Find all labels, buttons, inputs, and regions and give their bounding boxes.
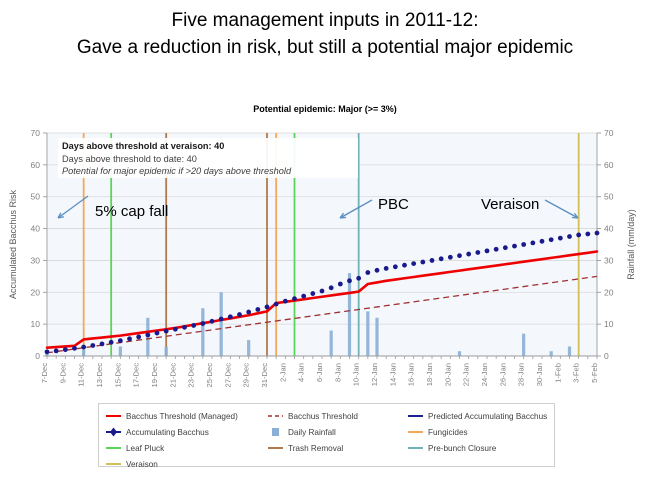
- series-point-accumulating-bacchus: [595, 231, 600, 236]
- series-point-accumulating-bacchus: [393, 264, 398, 269]
- diamond-marker-icon: [105, 426, 122, 438]
- x-tick-label: 18-Jan: [425, 363, 434, 386]
- series-point-accumulating-bacchus: [155, 331, 160, 336]
- series-point-accumulating-bacchus: [512, 244, 517, 249]
- y-tick-label-right: 60: [604, 160, 614, 170]
- legend-label: Bacchus Threshold: [288, 412, 358, 421]
- legend-label: Bacchus Threshold (Managed): [126, 412, 238, 421]
- series-point-accumulating-bacchus: [191, 323, 196, 328]
- chart-subtitle: Potential epidemic: Major (>= 3%): [0, 104, 650, 114]
- epidemic-risk-chart: 010203040506070010203040506070Accumulate…: [0, 118, 650, 408]
- legend-label: Pre-bunch Closure: [428, 444, 496, 453]
- y-tick-label-right: 20: [604, 287, 614, 297]
- rainfall-bar: [82, 350, 85, 356]
- x-tick-label: 16-Jan: [407, 363, 416, 386]
- legend-label: Trash Removal: [288, 444, 343, 453]
- series-point-accumulating-bacchus: [127, 336, 132, 341]
- x-tick-label: 1-Feb: [553, 363, 562, 383]
- y-axis-title-right: Rainfall (mm/day): [626, 209, 636, 280]
- series-point-accumulating-bacchus: [164, 329, 169, 334]
- series-point-accumulating-bacchus: [494, 247, 499, 252]
- solid-line-icon: [105, 410, 122, 422]
- series-point-accumulating-bacchus: [246, 310, 251, 315]
- x-tick-label: 4-Jan: [297, 363, 306, 382]
- y-tick-label-left: 50: [31, 192, 41, 202]
- annotation-line-3: Potential for major epidemic if >20 days…: [62, 166, 292, 176]
- solid-line-icon: [105, 458, 122, 470]
- solid-line-icon: [105, 442, 122, 454]
- y-tick-label-left: 10: [31, 319, 41, 329]
- series-point-accumulating-bacchus: [457, 253, 462, 258]
- rainfall-bar: [201, 308, 204, 356]
- solid-line-icon: [267, 442, 284, 454]
- x-tick-label: 7-Dec: [40, 363, 49, 383]
- x-tick-label: 28-Jan: [517, 363, 526, 386]
- series-point-accumulating-bacchus: [237, 312, 242, 317]
- series-point-accumulating-bacchus: [45, 349, 50, 354]
- legend-item[interactable]: Pre-bunch Closure: [407, 441, 557, 455]
- series-point-accumulating-bacchus: [200, 321, 205, 326]
- series-point-accumulating-bacchus: [576, 233, 581, 238]
- x-tick-label: 31-Dec: [260, 363, 269, 388]
- y-tick-label-right: 30: [604, 255, 614, 265]
- series-point-accumulating-bacchus: [228, 314, 233, 319]
- series-point-accumulating-bacchus: [173, 327, 178, 332]
- slide-title: Five management inputs in 2011-12: Gave …: [0, 8, 650, 62]
- series-point-accumulating-bacchus: [109, 340, 114, 345]
- legend-item[interactable]: Daily Rainfall: [267, 425, 407, 439]
- solid-line-icon: [407, 442, 424, 454]
- series-point-accumulating-bacchus: [265, 305, 270, 310]
- x-tick-label: 21-Dec: [168, 363, 177, 388]
- y-tick-label-left: 70: [31, 128, 41, 138]
- legend-label: Veraison: [126, 460, 158, 469]
- series-point-accumulating-bacchus: [320, 289, 325, 294]
- x-tick-label: 24-Jan: [480, 363, 489, 386]
- legend-label: Leaf Pluck: [126, 444, 164, 453]
- solid-line-icon: [407, 426, 424, 438]
- series-point-accumulating-bacchus: [466, 252, 471, 257]
- series-point-accumulating-bacchus: [292, 296, 297, 301]
- series-point-accumulating-bacchus: [136, 334, 141, 339]
- series-point-accumulating-bacchus: [540, 239, 545, 244]
- legend-label: Accumulating Bacchus: [126, 428, 209, 437]
- x-tick-label: 14-Jan: [388, 363, 397, 386]
- callout-label-veraison: Veraison: [481, 196, 539, 213]
- rainfall-bar: [522, 334, 525, 356]
- legend-item[interactable]: Trash Removal: [267, 441, 407, 455]
- series-point-accumulating-bacchus: [549, 237, 554, 242]
- y-tick-label-right: 0: [604, 351, 609, 361]
- x-tick-label: 23-Dec: [187, 363, 196, 388]
- y-tick-label-right: 40: [604, 224, 614, 234]
- series-point-accumulating-bacchus: [402, 263, 407, 268]
- x-tick-label: 8-Jan: [333, 363, 342, 382]
- series-point-accumulating-bacchus: [310, 291, 315, 296]
- x-tick-label: 2-Jan: [278, 363, 287, 382]
- series-point-accumulating-bacchus: [63, 347, 68, 352]
- series-point-accumulating-bacchus: [210, 319, 215, 324]
- x-tick-label: 19-Dec: [150, 363, 159, 388]
- series-point-accumulating-bacchus: [384, 266, 389, 271]
- x-tick-label: 29-Dec: [242, 363, 251, 388]
- series-point-accumulating-bacchus: [145, 333, 150, 338]
- legend-item[interactable]: Bacchus Threshold: [267, 409, 407, 423]
- series-point-accumulating-bacchus: [118, 338, 123, 343]
- series-point-accumulating-bacchus: [530, 241, 535, 246]
- series-point-accumulating-bacchus: [301, 294, 306, 299]
- series-point-accumulating-bacchus: [338, 282, 343, 287]
- chart-container: 010203040506070010203040506070Accumulate…: [0, 118, 650, 408]
- x-tick-label: 9-Dec: [58, 363, 67, 383]
- y-tick-label-left: 0: [35, 351, 40, 361]
- rainfall-bar: [375, 318, 378, 356]
- series-point-accumulating-bacchus: [503, 245, 508, 250]
- solid-line-icon: [407, 410, 424, 422]
- x-tick-label: 27-Dec: [223, 363, 232, 388]
- series-point-accumulating-bacchus: [283, 299, 288, 304]
- series-point-accumulating-bacchus: [375, 268, 380, 273]
- legend-item[interactable]: Accumulating Bacchus: [105, 425, 267, 439]
- bar-swatch-icon: [267, 426, 284, 438]
- series-point-accumulating-bacchus: [54, 349, 59, 354]
- series-point-accumulating-bacchus: [521, 242, 526, 247]
- title-line-2: Gave a reduction in risk, but still a po…: [0, 34, 650, 62]
- x-tick-label: 22-Jan: [462, 363, 471, 386]
- y-tick-label-right: 70: [604, 128, 614, 138]
- series-point-accumulating-bacchus: [90, 343, 95, 348]
- series-point-accumulating-bacchus: [420, 260, 425, 265]
- x-tick-label: 15-Dec: [113, 363, 122, 388]
- y-tick-label-right: 50: [604, 192, 614, 202]
- rainfall-bar: [119, 346, 122, 356]
- x-tick-label: 3-Feb: [572, 363, 581, 383]
- x-tick-label: 10-Jan: [352, 363, 361, 386]
- legend-label: Predicted Accumulating Bacchus: [428, 412, 547, 421]
- x-tick-label: 6-Jan: [315, 363, 324, 382]
- series-point-accumulating-bacchus: [558, 236, 563, 241]
- x-tick-label: 12-Jan: [370, 363, 379, 386]
- x-tick-label: 25-Dec: [205, 363, 214, 388]
- legend-item[interactable]: Fungicides: [407, 425, 557, 439]
- series-point-accumulating-bacchus: [255, 307, 260, 312]
- x-tick-label: 13-Dec: [95, 363, 104, 388]
- rainfall-bar: [330, 331, 333, 356]
- chart-legend: Bacchus Threshold (Managed)Bacchus Thres…: [98, 403, 555, 467]
- series-point-accumulating-bacchus: [182, 325, 187, 330]
- y-tick-label-right: 10: [604, 319, 614, 329]
- series-point-accumulating-bacchus: [100, 341, 105, 346]
- x-tick-label: 11-Dec: [77, 363, 86, 387]
- legend-item[interactable]: Veraison: [105, 457, 267, 471]
- series-point-accumulating-bacchus: [356, 276, 361, 281]
- series-point-accumulating-bacchus: [585, 232, 590, 237]
- rainfall-bar: [220, 292, 223, 356]
- series-point-accumulating-bacchus: [485, 248, 490, 253]
- x-tick-label: 20-Jan: [443, 363, 452, 386]
- callout-label-cap-fall: 5% cap fall: [95, 203, 168, 220]
- legend-item[interactable]: Leaf Pluck: [105, 441, 267, 455]
- y-tick-label-left: 20: [31, 287, 41, 297]
- rainfall-bar: [165, 346, 168, 356]
- x-tick-label: 26-Jan: [498, 363, 507, 386]
- dashed-line-icon: [267, 410, 284, 422]
- x-tick-label: 30-Jan: [535, 363, 544, 386]
- annotation-line-2: Days above threshold to date: 40: [62, 154, 197, 164]
- slide-root: Five management inputs in 2011-12: Gave …: [0, 0, 650, 478]
- series-point-accumulating-bacchus: [448, 255, 453, 260]
- series-point-accumulating-bacchus: [219, 317, 224, 322]
- legend-item[interactable]: Predicted Accumulating Bacchus: [407, 409, 557, 423]
- rainfall-bar: [366, 311, 369, 356]
- series-point-accumulating-bacchus: [475, 250, 480, 255]
- y-tick-label-left: 30: [31, 255, 41, 265]
- series-point-accumulating-bacchus: [430, 258, 435, 263]
- callout-label-pbc: PBC: [378, 196, 409, 213]
- rainfall-bar: [348, 273, 351, 356]
- annotation-line-1: Days above threshold at veraison: 40: [62, 141, 224, 151]
- x-tick-label: 17-Dec: [132, 363, 141, 388]
- series-point-accumulating-bacchus: [347, 278, 352, 283]
- series-point-accumulating-bacchus: [329, 285, 334, 290]
- rainfall-bar: [550, 351, 553, 356]
- legend-label: Fungicides: [428, 428, 468, 437]
- y-tick-label-left: 60: [31, 160, 41, 170]
- rainfall-bar: [458, 351, 461, 356]
- rainfall-bar: [247, 340, 250, 356]
- legend-label: Daily Rainfall: [288, 428, 336, 437]
- y-tick-label-left: 40: [31, 224, 41, 234]
- series-point-accumulating-bacchus: [72, 346, 77, 351]
- series-point-accumulating-bacchus: [274, 302, 279, 307]
- y-axis-title-left: Accumulated Bacchus Risk: [8, 189, 18, 299]
- title-line-1: Five management inputs in 2011-12:: [0, 8, 650, 34]
- series-point-accumulating-bacchus: [567, 234, 572, 239]
- rainfall-bar: [568, 346, 571, 356]
- series-point-accumulating-bacchus: [439, 256, 444, 261]
- series-point-accumulating-bacchus: [365, 270, 370, 275]
- legend-item[interactable]: Bacchus Threshold (Managed): [105, 409, 267, 423]
- x-tick-label: 5-Feb: [590, 363, 599, 383]
- series-point-accumulating-bacchus: [81, 345, 86, 350]
- series-point-accumulating-bacchus: [411, 261, 416, 266]
